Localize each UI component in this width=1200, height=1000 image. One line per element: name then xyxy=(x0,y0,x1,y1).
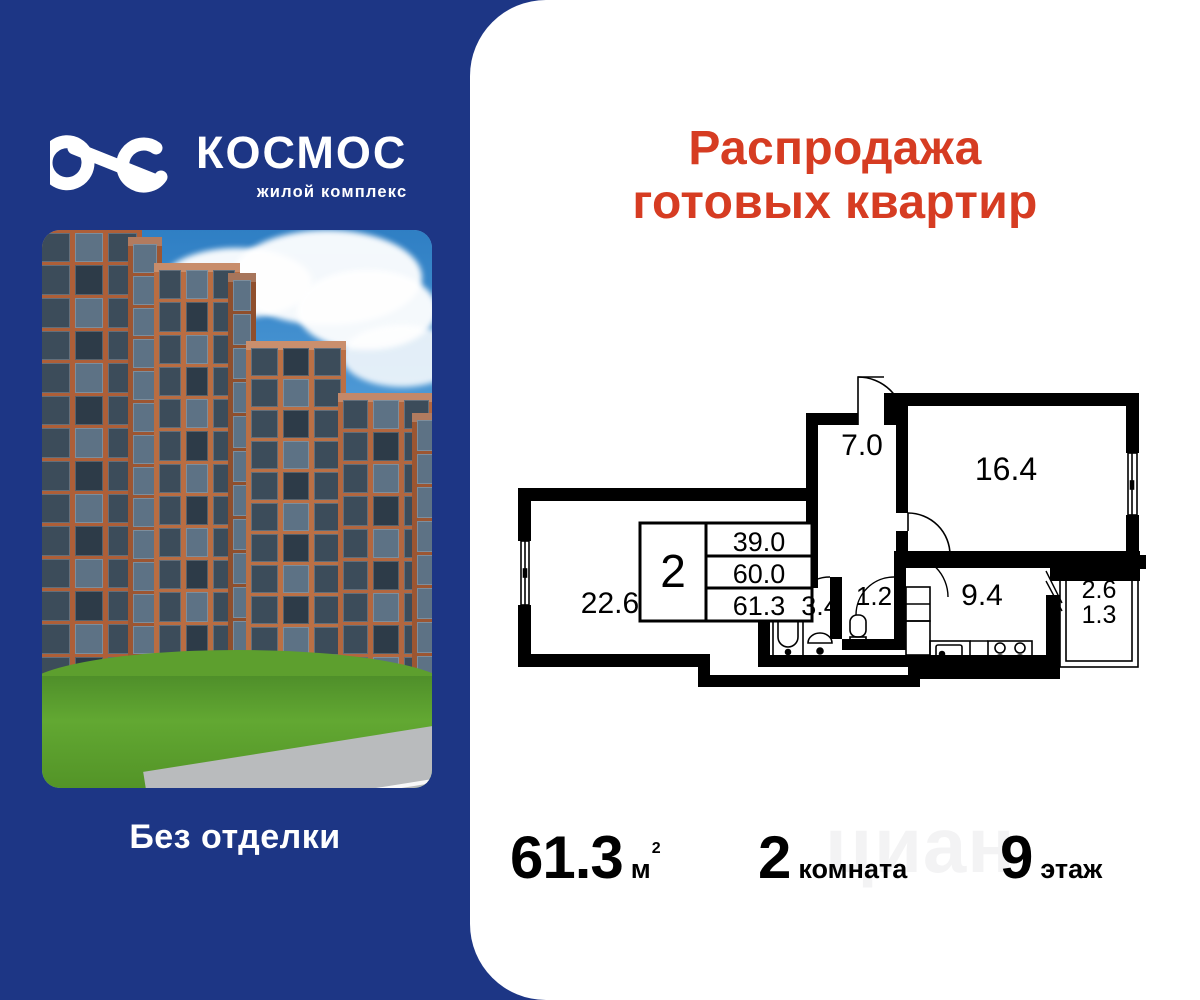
stat-floor-value: 9 xyxy=(1000,828,1032,888)
stat-floor-label: этаж xyxy=(1040,856,1102,883)
finish-caption: Без отделки xyxy=(0,818,470,857)
room-area-bedroom: 16.4 xyxy=(975,451,1037,487)
stat-area-value: 61.3 xyxy=(510,828,623,888)
building-block xyxy=(246,341,346,693)
plan-badge: 2 39.0 60.0 61.3 xyxy=(640,523,812,621)
brand-lockup: КОСМОС жилой комплекс xyxy=(50,118,440,208)
headline-line-2: готовых квартир xyxy=(470,176,1200,230)
stat-rooms-label: комната xyxy=(798,856,907,883)
left-brand-panel: КОСМОС жилой комплекс xyxy=(0,0,470,1000)
building-block xyxy=(42,230,142,693)
page-title: Распродажа готовых квартир xyxy=(470,122,1200,230)
badge-living-area: 39.0 xyxy=(733,527,786,557)
photo-canvas xyxy=(42,230,432,788)
badge-rooms: 2 xyxy=(660,545,686,597)
room-area-living-room: 22.6 xyxy=(581,587,639,620)
listing-stats: циан 61.3 м 2 2 комната 9 этаж xyxy=(470,808,1200,900)
room-area-balcony: 2.6 xyxy=(1082,576,1117,604)
building-photo xyxy=(42,230,432,788)
stat-area: 61.3 м 2 xyxy=(510,828,661,888)
brand-subtitle: жилой комплекс xyxy=(196,184,407,201)
badge-total-with-balcony: 61.3 xyxy=(733,591,786,621)
brand-text: КОСМОС жилой комплекс xyxy=(196,126,407,201)
badge-total-area: 60.0 xyxy=(733,559,786,589)
stat-area-unit-exponent: 2 xyxy=(652,840,661,858)
room-area-wc: 1.2 xyxy=(856,581,892,611)
infinity-icon xyxy=(50,126,178,200)
brand-name: КОСМОС xyxy=(196,130,407,175)
listing-card: Распродажа готовых квартир xyxy=(470,0,1200,1000)
room-area-hall: 7.0 xyxy=(841,429,883,462)
stat-rooms: 2 комната xyxy=(758,828,907,888)
stat-rooms-value: 2 xyxy=(758,828,790,888)
headline-line-1: Распродажа xyxy=(470,122,1200,176)
building-block xyxy=(412,413,432,693)
floor-plan: 2 39.0 60.0 61.3 22.6 3.4 1.2 7.0 16.4 9… xyxy=(490,355,1190,700)
stat-floor: 9 этаж xyxy=(1000,828,1102,888)
floor-plan-drawing: 2 39.0 60.0 61.3 22.6 3.4 1.2 7.0 16.4 9… xyxy=(490,355,1190,700)
room-area-bathroom: 3.4 xyxy=(801,591,839,621)
stat-area-unit: м xyxy=(631,856,651,883)
room-area-kitchen: 9.4 xyxy=(961,579,1003,612)
room-area-balcony-reduced: 1.3 xyxy=(1082,601,1117,629)
